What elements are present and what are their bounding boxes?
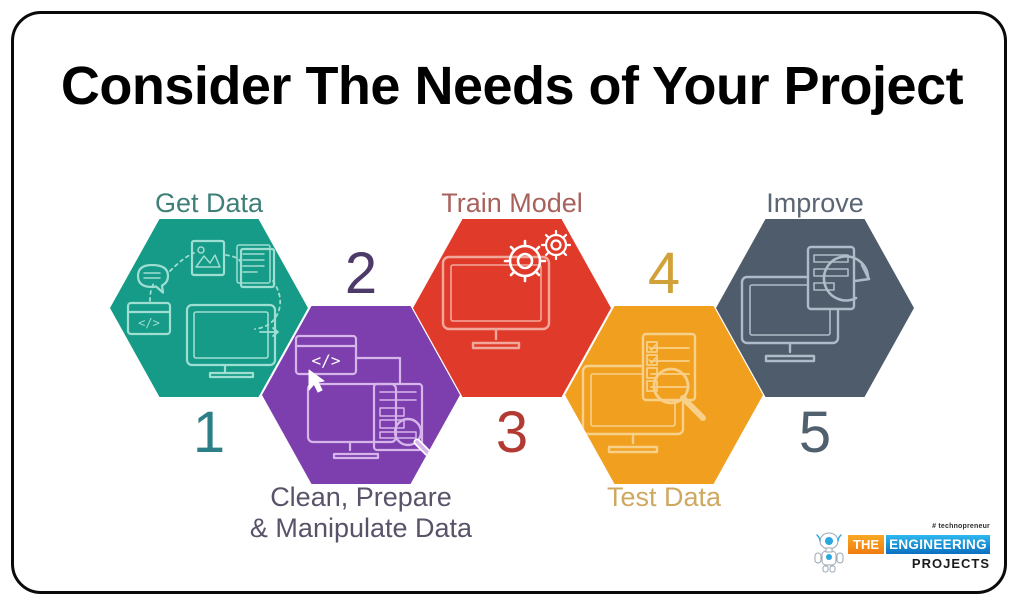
logo-word-the: THE (848, 535, 884, 554)
step-1-label: Get Data (109, 188, 309, 219)
step-5-number: 5 (715, 404, 915, 462)
step-5-label: Improve (715, 188, 915, 219)
robot-mascot-icon (812, 529, 846, 573)
page-title: Consider The Needs of Your Project (0, 55, 1024, 117)
step-3-label-line-1: Train Model (441, 188, 583, 218)
infographic-canvas: Consider The Needs of Your Project </> (0, 0, 1024, 609)
step-1-label-line-1: Get Data (155, 188, 263, 218)
step-5-label-line-1: Improve (766, 188, 864, 218)
step-4-label: Test Data (564, 482, 764, 513)
step-4-label-line-1: Test Data (607, 482, 721, 512)
brand-logo[interactable]: # technopreneur THE ENGINEERING PROJECTS (812, 523, 992, 581)
logo-tagline: # technopreneur (932, 523, 990, 530)
logo-word-projects: PROJECTS (912, 556, 990, 571)
logo-word-engineering: ENGINEERING (886, 535, 990, 554)
step-2-label-line-2: & Manipulate Data (241, 513, 481, 544)
step-2-label-line-1: Clean, Prepare (241, 482, 481, 513)
step-2-label: Clean, Prepare & Manipulate Data (241, 482, 481, 545)
svg-text:</>: </> (138, 316, 160, 330)
step-3-label: Train Model (412, 188, 612, 219)
svg-text:</>: </> (312, 351, 341, 370)
